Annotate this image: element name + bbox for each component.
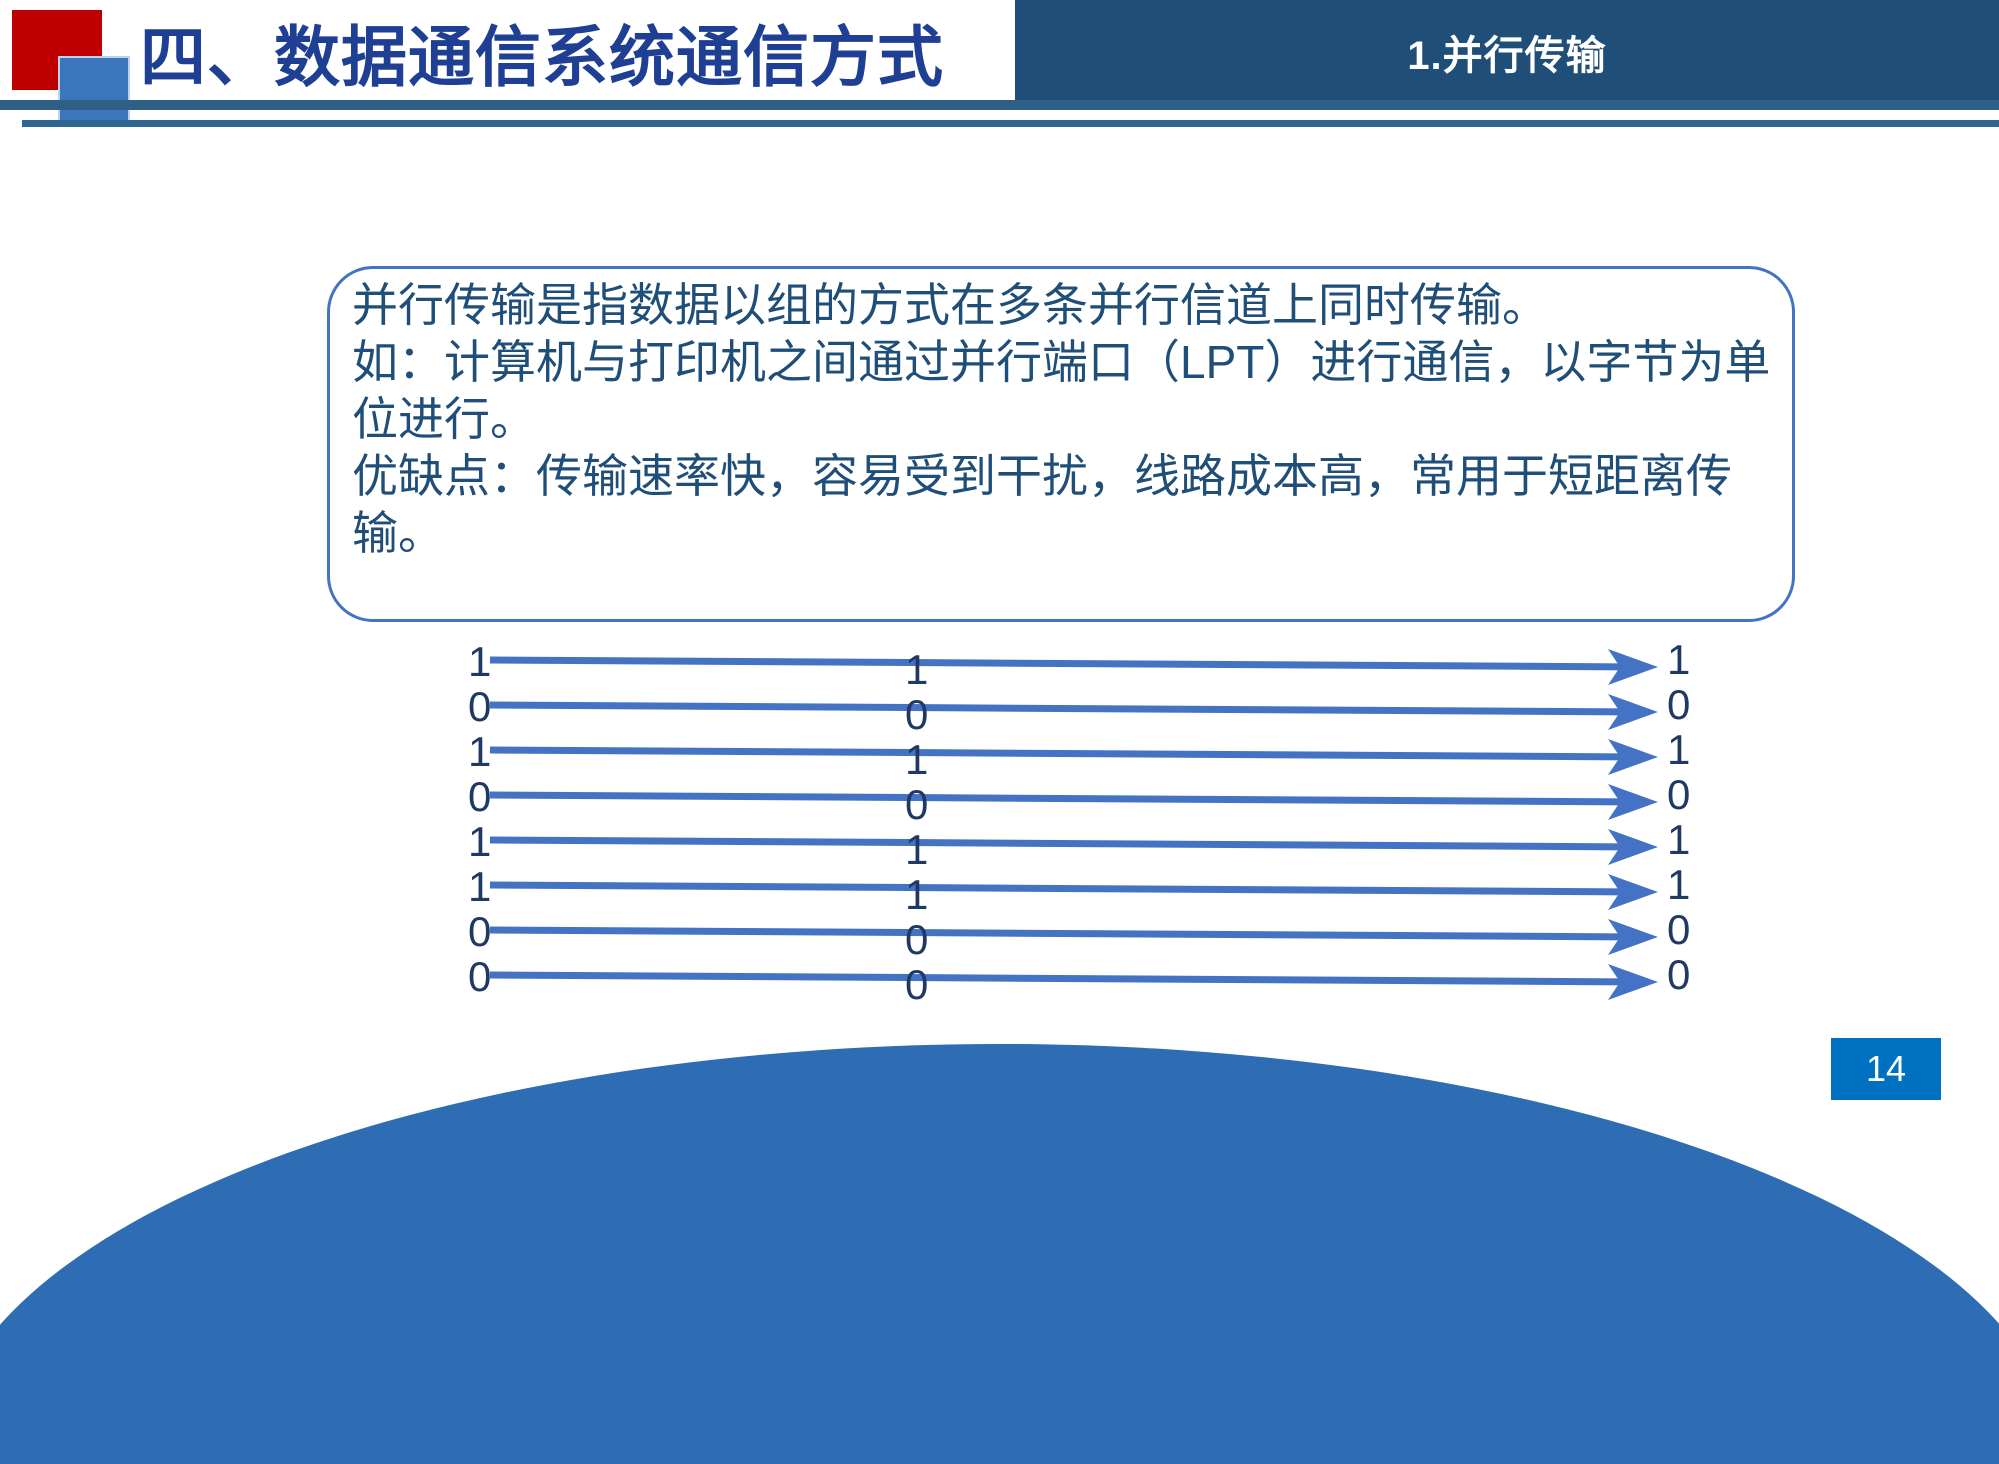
- channel-arrow-icon: [490, 780, 1665, 826]
- channel-middle-bit: 1: [905, 872, 928, 918]
- channel-source-bit: 1: [468, 864, 491, 910]
- channel-source-bit: 0: [468, 774, 491, 820]
- channel-arrow-icon: [490, 960, 1665, 1006]
- channel-source-bit: 0: [468, 954, 491, 1000]
- channel-destination-bit: 1: [1667, 727, 1690, 773]
- decoration-blue-square: [58, 56, 130, 122]
- page-number-badge: 14: [1831, 1038, 1941, 1100]
- channel-source-bit: 0: [468, 909, 491, 955]
- channel-source-bit: 0: [468, 684, 491, 730]
- description-text: 并行传输是指数据以组的方式在多条并行信道上同时传输。 如：计算机与打印机之间通过…: [352, 277, 1772, 562]
- channel-destination-bit: 0: [1667, 682, 1690, 728]
- channel-row: 000: [440, 780, 1740, 826]
- slide-header: 四、数据通信系统通信方式 1.并行传输: [0, 0, 1999, 112]
- channel-middle-bit: 1: [905, 827, 928, 873]
- footer-arc-decoration: [0, 1044, 1999, 1464]
- channel-middle-bit: 1: [905, 737, 928, 783]
- channel-arrow-icon: [490, 735, 1665, 781]
- channel-row: 000: [440, 690, 1740, 736]
- channel-destination-bit: 0: [1667, 952, 1690, 998]
- channel-destination-bit: 1: [1667, 817, 1690, 863]
- channel-row: 111: [440, 825, 1740, 871]
- channel-middle-bit: 0: [905, 692, 928, 738]
- channel-middle-bit: 0: [905, 782, 928, 828]
- channel-arrow-icon: [490, 870, 1665, 916]
- header-divider-secondary: [22, 120, 1999, 127]
- channel-arrow-icon: [490, 645, 1665, 691]
- channel-destination-bit: 0: [1667, 772, 1690, 818]
- channel-source-bit: 1: [468, 729, 491, 775]
- channel-row: 111: [440, 870, 1740, 916]
- parallel-transmission-diagram: 111000111000111111000000: [440, 645, 1740, 1035]
- channel-source-bit: 1: [468, 819, 491, 865]
- channel-middle-bit: 0: [905, 962, 928, 1008]
- channel-row: 111: [440, 645, 1740, 691]
- channel-arrow-icon: [490, 915, 1665, 961]
- channel-row: 111: [440, 735, 1740, 781]
- page-title: 四、数据通信系统通信方式: [140, 4, 1010, 100]
- channel-destination-bit: 1: [1667, 862, 1690, 908]
- header-divider-primary: [0, 100, 1999, 110]
- channel-row: 000: [440, 915, 1740, 961]
- channel-row: 000: [440, 960, 1740, 1006]
- description-box: 并行传输是指数据以组的方式在多条并行信道上同时传输。 如：计算机与打印机之间通过…: [327, 266, 1795, 622]
- channel-arrow-icon: [490, 825, 1665, 871]
- channel-destination-bit: 0: [1667, 907, 1690, 953]
- channel-arrow-icon: [490, 690, 1665, 736]
- channel-middle-bit: 1: [905, 647, 928, 693]
- channel-middle-bit: 0: [905, 917, 928, 963]
- channel-source-bit: 1: [468, 639, 491, 685]
- page-subtitle: 1.并行传输: [1015, 0, 1999, 104]
- channel-destination-bit: 1: [1667, 637, 1690, 683]
